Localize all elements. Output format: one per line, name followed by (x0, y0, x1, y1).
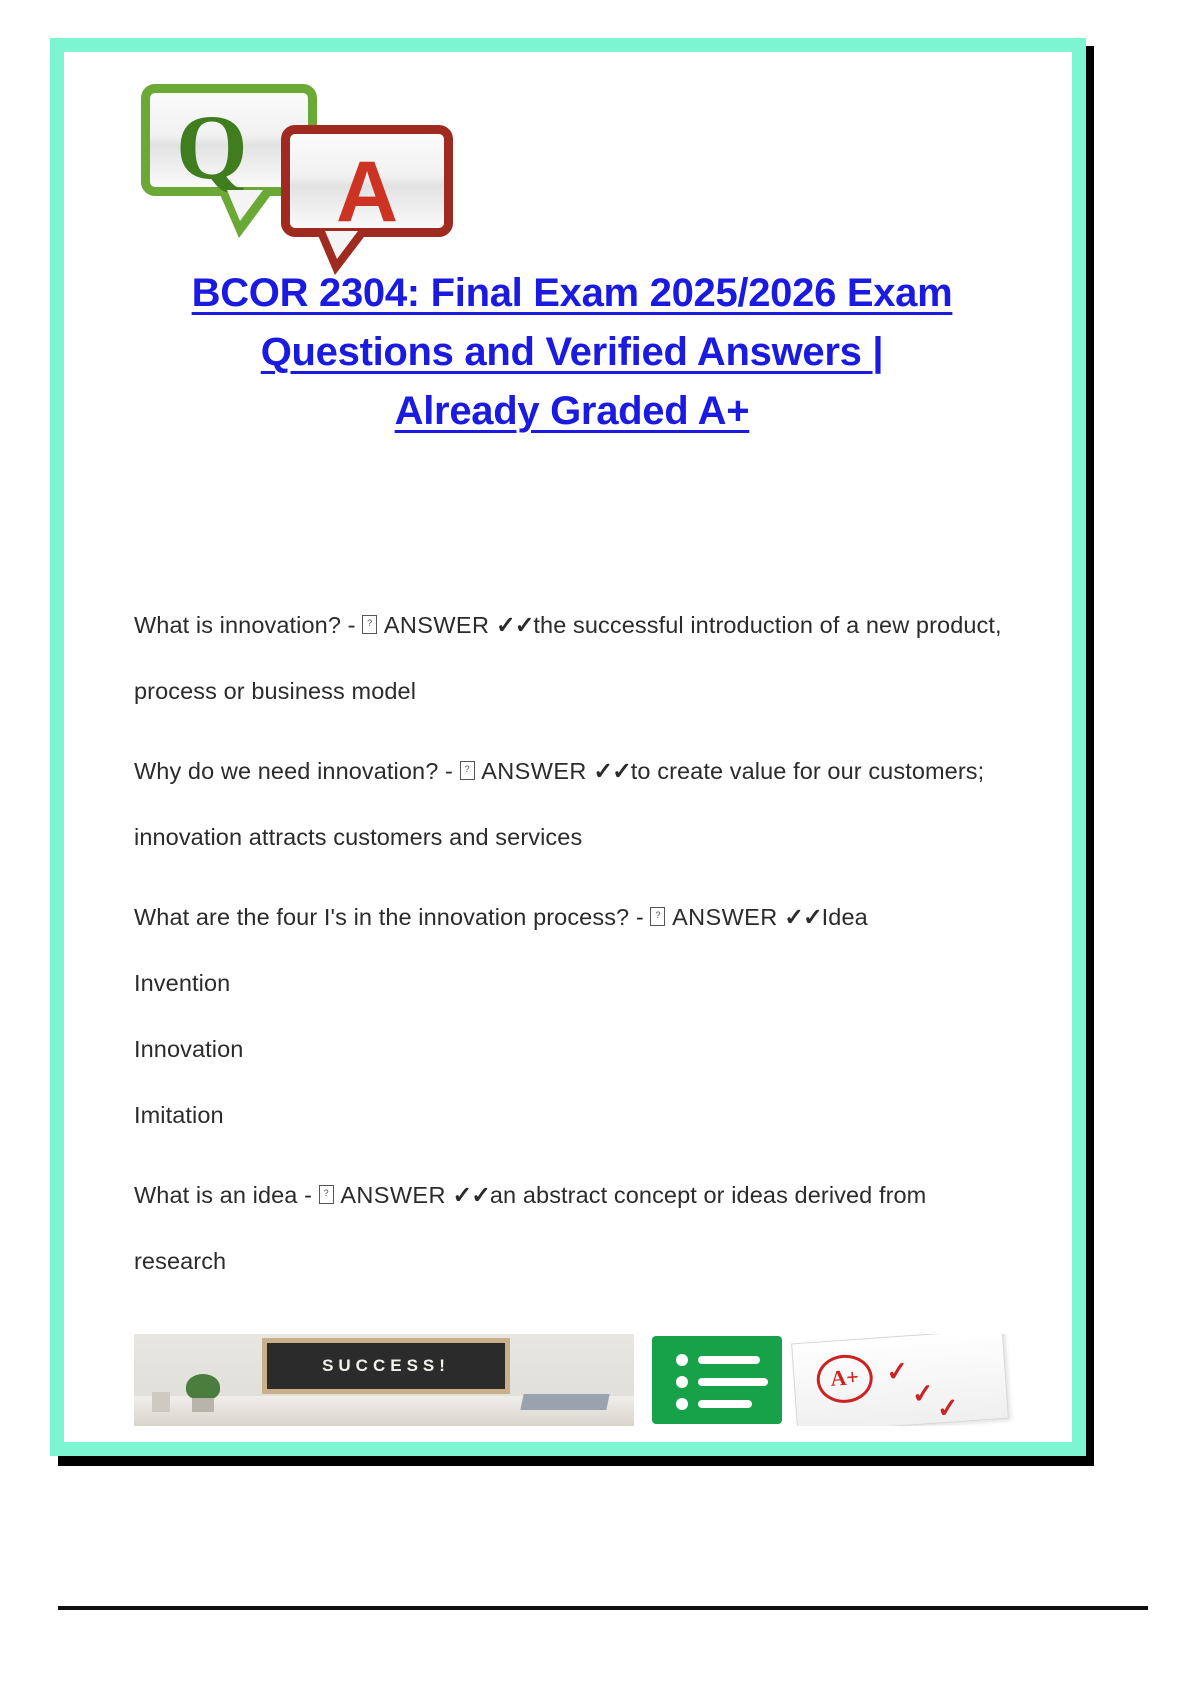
answer-bubble-tail-inner-icon (325, 231, 358, 259)
page-title: BCOR 2304: Final Exam 2025/2026 Exam Que… (134, 264, 1010, 441)
red-mark-icon: ✓ (936, 1393, 960, 1424)
red-mark-icon: ✓ (885, 1356, 909, 1387)
checkmark-icon: ✓✓ (453, 1182, 490, 1208)
missing-glyph-icon: ? (650, 907, 665, 926)
checklist-bullet-icon (676, 1376, 688, 1388)
checklist-bullet-icon (676, 1354, 688, 1366)
checklist-line (698, 1400, 752, 1408)
qa-block: What are the four I's in the innovation … (134, 884, 1024, 1148)
checklist-bullet-icon (676, 1398, 688, 1410)
qa-body: What is innovation? - ? ANSWER ✓✓the suc… (134, 592, 1024, 1308)
plant-pot-icon (192, 1398, 214, 1412)
missing-glyph-icon: ? (319, 1185, 334, 1204)
missing-glyph-icon: ? (460, 761, 475, 780)
cup-icon (152, 1392, 170, 1412)
qa-paragraph: What is an idea - ? ANSWER ✓✓an abstract… (134, 1162, 1024, 1294)
title-line-3: Already Graded A+ (134, 382, 1010, 441)
qa-paragraph: What is innovation? - ? ANSWER ✓✓the suc… (134, 592, 1024, 724)
qa-paragraph: What are the four I's in the innovation … (134, 884, 1024, 950)
question-text: What is innovation? - (134, 612, 356, 638)
answer-letter: A (336, 140, 398, 244)
title-line-2: Questions and Verified Answers | (134, 323, 1010, 382)
answer-label: ANSWER (672, 904, 778, 930)
success-blackboard-photo: SUCCESS! (134, 1334, 634, 1426)
grade-badge: A+ (815, 1353, 874, 1405)
success-text: SUCCESS! (267, 1343, 505, 1389)
answer-list-item: Imitation (134, 1082, 1024, 1148)
blackboard: SUCCESS! (262, 1338, 510, 1394)
answer-label: ANSWER (384, 612, 490, 638)
answer-label: ANSWER (340, 1182, 446, 1208)
plant-icon (186, 1374, 220, 1400)
question-letter: Q (176, 95, 248, 199)
page-bottom-rule (58, 1606, 1148, 1610)
answer-bubble-icon: A (281, 125, 453, 237)
qa-paragraph: Why do we need innovation? - ? ANSWER ✓✓… (134, 738, 1024, 870)
qa-logo: Q A (141, 80, 461, 262)
answer-list-item: Invention (134, 950, 1024, 1016)
checklist-line (698, 1378, 768, 1386)
graded-paper-photo: A+ ✓ ✓ ✓ (644, 1334, 1044, 1426)
answer-text: Idea (822, 904, 868, 930)
answer-list-item: Innovation (134, 1016, 1024, 1082)
document-page: Q A BCOR 2304: Final Exam 2025/2026 Exam… (0, 0, 1200, 1700)
question-bubble-tail-inner-icon (227, 190, 263, 221)
checklist-card-icon (652, 1336, 782, 1424)
question-text: Why do we need innovation? - (134, 758, 453, 784)
qa-block: What is innovation? - ? ANSWER ✓✓the suc… (134, 592, 1024, 724)
page-sheet: Q A BCOR 2304: Final Exam 2025/2026 Exam… (64, 52, 1072, 1442)
checklist-line (698, 1356, 760, 1364)
missing-glyph-icon: ? (362, 615, 377, 634)
checkmark-icon: ✓✓ (496, 612, 533, 638)
red-mark-icon: ✓ (911, 1379, 935, 1410)
book-icon (520, 1394, 609, 1410)
answer-label: ANSWER (481, 758, 587, 784)
qa-block: Why do we need innovation? - ? ANSWER ✓✓… (134, 738, 1024, 870)
title-line-1: BCOR 2304: Final Exam 2025/2026 Exam (134, 264, 1010, 323)
exam-paper-icon: A+ ✓ ✓ ✓ (791, 1334, 1009, 1426)
footer-image-strip: SUCCESS! A+ ✓ ✓ (134, 1334, 1044, 1426)
checkmark-icon: ✓✓ (784, 904, 821, 930)
question-text: What are the four I's in the innovation … (134, 904, 644, 930)
question-text: What is an idea - (134, 1182, 312, 1208)
qa-block: What is an idea - ? ANSWER ✓✓an abstract… (134, 1162, 1024, 1294)
checkmark-icon: ✓✓ (593, 758, 630, 784)
